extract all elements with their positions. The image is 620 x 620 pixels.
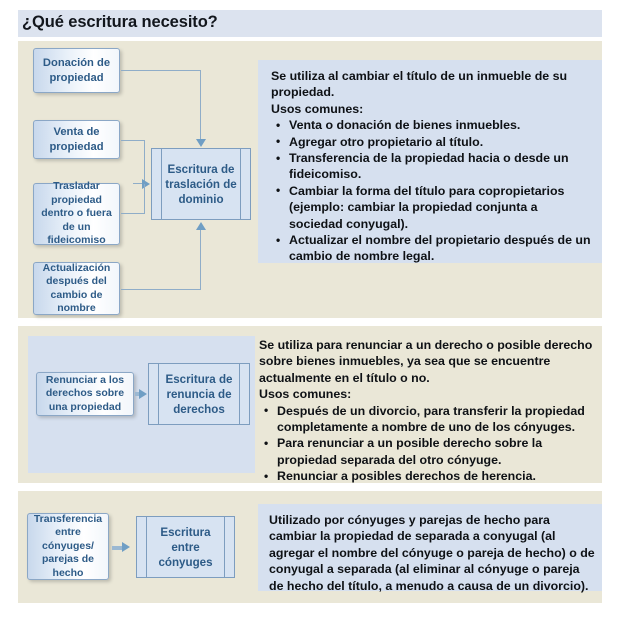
list-item: Transferencia de la propiedad hacia o de…	[271, 150, 593, 183]
flow-box-venta-de-propiedad[interactable]: Venta de propiedad	[33, 120, 120, 159]
description-text-1: Se utiliza al cambiar el título de un in…	[271, 68, 593, 265]
connector-line	[200, 70, 201, 140]
description-text-3: Utilizado por cónyuges y parejas de hech…	[269, 512, 595, 594]
connector-line	[200, 230, 201, 290]
document-box-label: Escritura de traslación de dominio	[152, 162, 250, 207]
list-item: Venta o donación de bienes inmuebles.	[271, 117, 593, 133]
list-item: Actualizar el nombre del propietario des…	[271, 232, 593, 265]
description-text-2: Se utiliza para renunciar a un derecho o…	[259, 337, 597, 485]
flow-box-transferencia-entre-conyuges[interactable]: Transferencia entre cónyuges/ parejas de…	[27, 513, 109, 580]
description-bullet-list: Venta o donación de bienes inmuebles. Ag…	[271, 117, 593, 265]
description-bullet-list: Después de un divorcio, para transferir …	[259, 403, 597, 485]
description-usos-label: Usos comunes:	[259, 386, 597, 402]
list-item: Agregar otro propietario al título.	[271, 134, 593, 150]
flow-box-donacion-de-propiedad[interactable]: Donación de propiedad	[33, 48, 120, 93]
list-item: Cambiar la forma del título para copropi…	[271, 183, 593, 232]
description-intro: Utilizado por cónyuges y parejas de hech…	[269, 512, 595, 594]
flow-box-actualizacion-cambio-de-nombre[interactable]: Actualización después del cambio de nomb…	[33, 262, 120, 315]
connector-line	[144, 184, 145, 214]
flow-box-label: Actualización después del cambio de nomb…	[37, 262, 116, 316]
list-item: Renunciar a posibles derechos de herenci…	[259, 468, 597, 484]
list-item: Para renunciar a un posible derecho sobr…	[259, 435, 597, 468]
flow-box-renunciar-derechos-propiedad[interactable]: Renunciar a los derechos sobre una propi…	[36, 372, 134, 416]
description-intro: Se utiliza al cambiar el título de un in…	[271, 68, 593, 101]
flow-box-label: Venta de propiedad	[37, 125, 116, 154]
document-box-label: Escritura de renuncia de derechos	[149, 372, 249, 417]
description-usos-label: Usos comunes:	[271, 101, 593, 117]
arrow-right-icon	[122, 542, 130, 552]
document-box-escritura-renuncia-de-derechos[interactable]: Escritura de renuncia de derechos	[148, 363, 250, 425]
connector-line	[121, 213, 145, 214]
connector-line	[121, 70, 201, 71]
connector-line	[121, 289, 201, 290]
infographic-page: ¿Qué escritura necesito? Donación de pro…	[0, 0, 620, 620]
document-box-escritura-traslacion-de-dominio[interactable]: Escritura de traslación de dominio	[151, 148, 251, 220]
list-item: Después de un divorcio, para transferir …	[259, 403, 597, 436]
arrow-down-icon	[196, 139, 206, 147]
connector-line	[144, 140, 145, 184]
document-box-label: Escritura entre cónyuges	[137, 525, 234, 570]
flow-box-label: Transferencia entre cónyuges/ parejas de…	[31, 513, 105, 580]
page-title: ¿Qué escritura necesito?	[22, 13, 218, 32]
arrow-right-icon	[139, 389, 147, 399]
description-intro: Se utiliza para renunciar a un derecho o…	[259, 337, 597, 386]
arrow-up-icon	[196, 222, 206, 230]
flow-box-label: Donación de propiedad	[37, 56, 116, 85]
flow-box-label: Renunciar a los derechos sobre una propi…	[40, 374, 130, 414]
document-box-escritura-entre-conyuges[interactable]: Escritura entre cónyuges	[136, 516, 235, 578]
flow-box-label: Trasladar propiedad dentro o fuera de un…	[37, 180, 116, 247]
flow-box-trasladar-propiedad-fideicomiso[interactable]: Trasladar propiedad dentro o fuera de un…	[33, 183, 120, 245]
connector-line	[121, 140, 145, 141]
